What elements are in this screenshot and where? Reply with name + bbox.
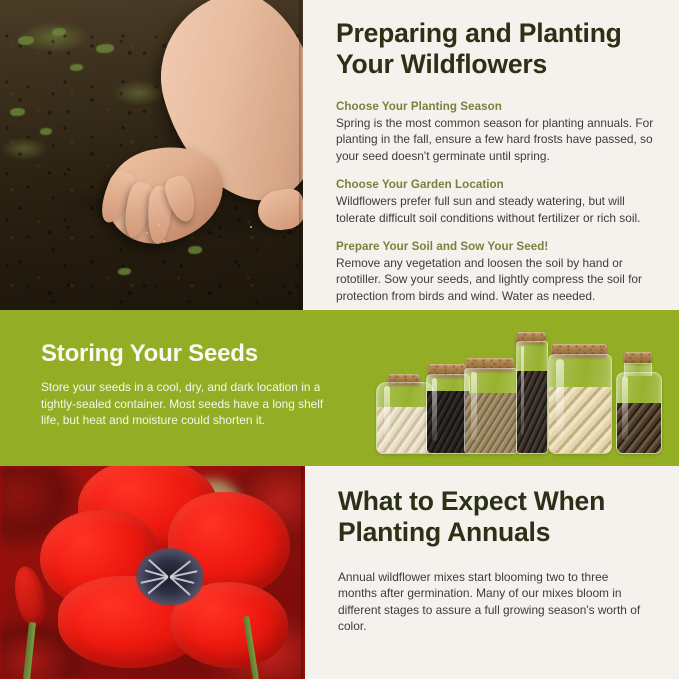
falling-seed (250, 226, 252, 228)
what-to-expect-body: Annual wildflower mixes start blooming t… (338, 569, 650, 635)
jar-pumpkin-seeds (548, 344, 610, 454)
jar-brown-grain (464, 358, 516, 454)
text-block-prepare-soil: Prepare Your Soil and Sow Your Seed! Rem… (336, 239, 666, 304)
glass-highlight (556, 359, 563, 437)
section-preparing-and-planting: Preparing and Planting Your Wildflowers … (0, 0, 679, 310)
what-to-expect-title: What to Expect When Planting Annuals (338, 486, 638, 548)
jar-glass (464, 368, 518, 454)
hand-sowing-seeds-photo (0, 0, 303, 310)
page-title: Preparing and Planting Your Wildflowers (336, 18, 642, 80)
subheading-prepare-soil: Prepare Your Soil and Sow Your Seed! (336, 239, 666, 254)
sprout-icon (96, 44, 114, 53)
sprout-icon (70, 64, 83, 71)
falling-seed (158, 224, 160, 226)
glass-highlight (622, 376, 627, 440)
glass-highlight (521, 346, 525, 435)
sprout-icon (188, 246, 202, 254)
falling-seed (146, 232, 148, 234)
jar-glass (616, 372, 662, 454)
jar-sunflower-seeds (616, 352, 660, 454)
jar-glass (516, 341, 548, 454)
sprout-icon (10, 108, 25, 116)
subheading-garden-location: Choose Your Garden Location (336, 177, 666, 192)
photo-edge-shadow (301, 466, 305, 679)
section-three-text-column: What to Expect When Planting Annuals Ann… (338, 466, 658, 635)
body-garden-location: Wildflowers prefer full sun and steady w… (336, 193, 662, 226)
falling-seed (152, 212, 154, 214)
sprout-icon (18, 36, 34, 45)
infographic-page: Preparing and Planting Your Wildflowers … (0, 0, 679, 679)
seed-jars-photo (376, 326, 666, 454)
section-what-to-expect: What to Expect When Planting Annuals Ann… (0, 466, 679, 679)
section-one-text-column: Preparing and Planting Your Wildflowers … (336, 0, 666, 310)
sprout-icon (52, 28, 66, 36)
sprout-icon (118, 268, 131, 275)
subheading-planting-season: Choose Your Planting Season (336, 99, 666, 114)
photo-edge-shadow (299, 0, 303, 310)
text-block-garden-location: Choose Your Garden Location Wildflowers … (336, 177, 666, 226)
glass-highlight (471, 372, 477, 439)
glass-highlight (432, 378, 437, 440)
storing-seeds-body: Store your seeds in a cool, dry, and dar… (41, 379, 333, 429)
jar-white-beans (376, 374, 432, 454)
body-prepare-soil: Remove any vegetation and loosen the soi… (336, 255, 658, 304)
jar-dark-poppy-seeds (516, 332, 546, 454)
jar-glass (548, 354, 612, 454)
sprout-icon (40, 128, 52, 135)
jar-black-seeds (426, 364, 468, 454)
storing-seeds-title: Storing Your Seeds (41, 340, 258, 368)
glass-highlight (384, 386, 391, 442)
body-planting-season: Spring is the most common season for pla… (336, 115, 654, 164)
text-block-planting-season: Choose Your Planting Season Spring is th… (336, 99, 666, 164)
falling-seed (163, 240, 165, 242)
red-poppy-photo (0, 466, 305, 679)
